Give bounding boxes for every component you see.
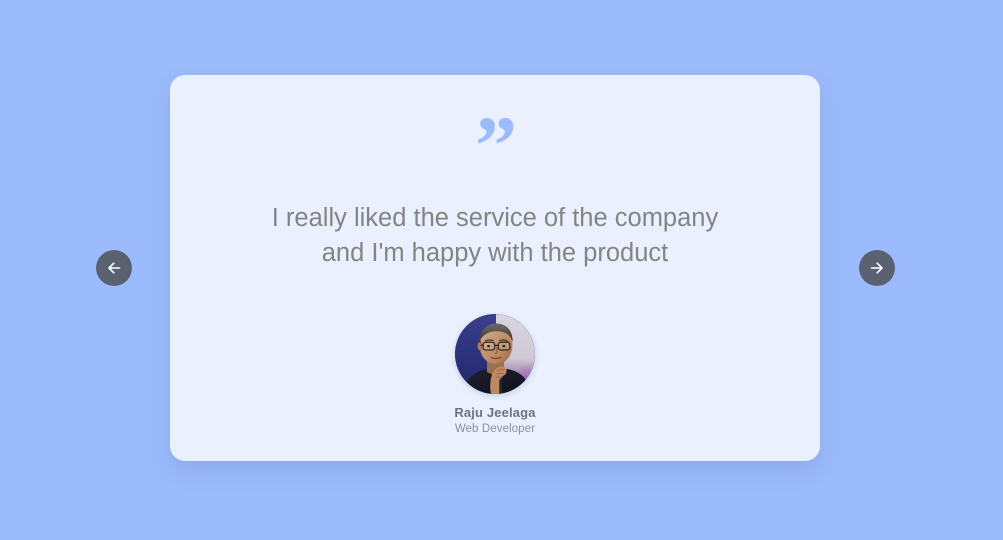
testimonial-slider: ” I really liked the service of the comp… <box>0 0 1003 540</box>
author-role: Web Developer <box>455 423 535 435</box>
avatar <box>455 314 535 394</box>
next-testimonial-button[interactable] <box>859 250 895 286</box>
testimonial-quote-text: I really liked the service of the compan… <box>215 201 775 271</box>
previous-testimonial-button[interactable] <box>96 250 132 286</box>
closing-double-quote-icon: ” <box>475 105 515 167</box>
arrow-left-icon <box>105 259 123 277</box>
quote-line-2: and I'm happy with the product <box>215 236 775 271</box>
author-name: Raju Jeelaga <box>454 405 535 420</box>
arrow-right-icon <box>868 259 886 277</box>
quote-line-1: I really liked the service of the compan… <box>215 201 775 236</box>
testimonial-card: ” I really liked the service of the comp… <box>170 75 820 461</box>
